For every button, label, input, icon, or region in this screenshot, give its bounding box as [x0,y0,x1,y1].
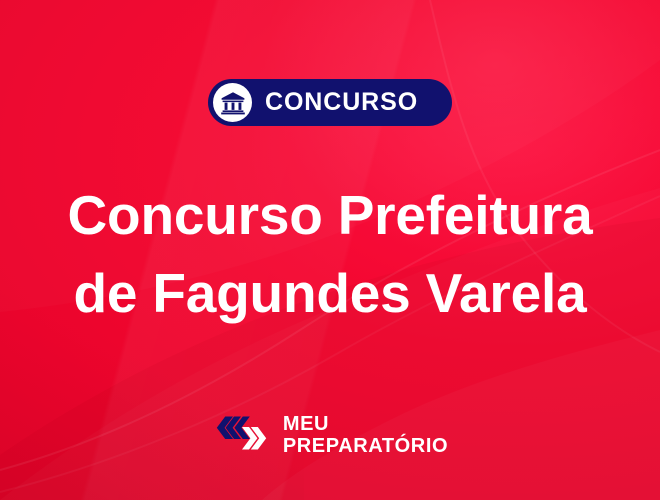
page-title: Concurso Prefeitura de Fagundes Varela [0,176,660,332]
meu-preparatorio-logo-icon [212,413,270,458]
brand-lockup: MEU PREPARATÓRIO [0,413,660,458]
badge-label: CONCURSO [265,90,418,115]
brand-name: MEU PREPARATÓRIO [283,414,448,456]
concurso-badge: CONCURSO [208,79,452,126]
brand-name-line-1: MEU [283,414,448,435]
brand-name-line-2: PREPARATÓRIO [283,436,448,457]
page-title-line-2: de Fagundes Varela [26,254,634,332]
promo-banner: CONCURSO Concurso Prefeitura de Fagundes… [0,0,660,500]
bank-building-icon [213,83,252,122]
page-title-line-1: Concurso Prefeitura [26,176,634,254]
